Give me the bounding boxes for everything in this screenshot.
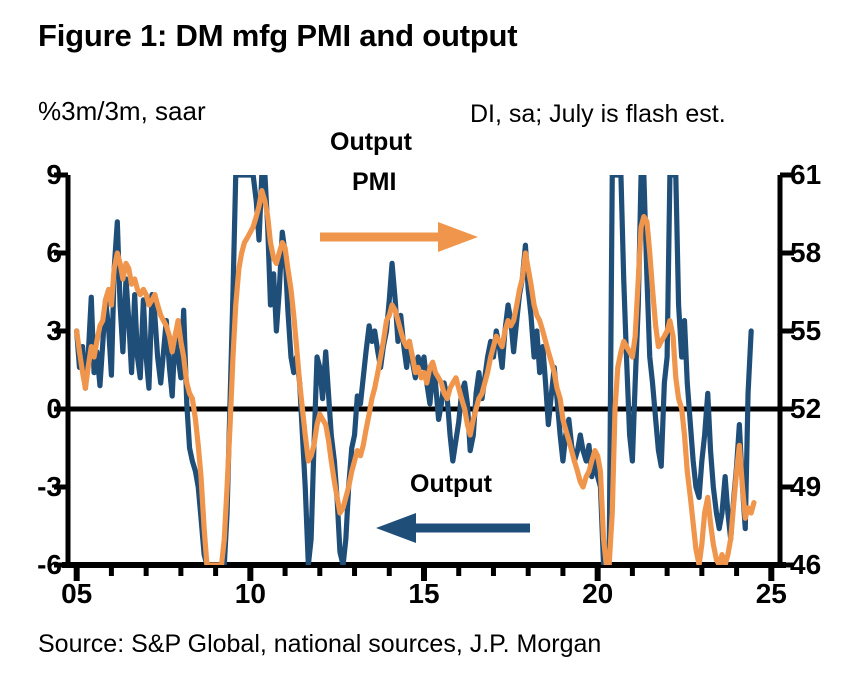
x-axis-tick-label: 20: [582, 578, 613, 610]
x-axis-tick-label: 10: [235, 578, 266, 610]
figure-container: Figure 1: DM mfg PMI and output %3m/3m, …: [0, 0, 852, 689]
output-arrow-head: [376, 513, 416, 543]
output-pmi-arrow-head: [438, 222, 478, 252]
x-axis-tick-label: 05: [61, 578, 92, 610]
source-note: Source: S&P Global, national sources, J.…: [38, 630, 601, 659]
x-axis-tick-label: 25: [756, 578, 787, 610]
x-axis-tick-label: 15: [408, 578, 439, 610]
